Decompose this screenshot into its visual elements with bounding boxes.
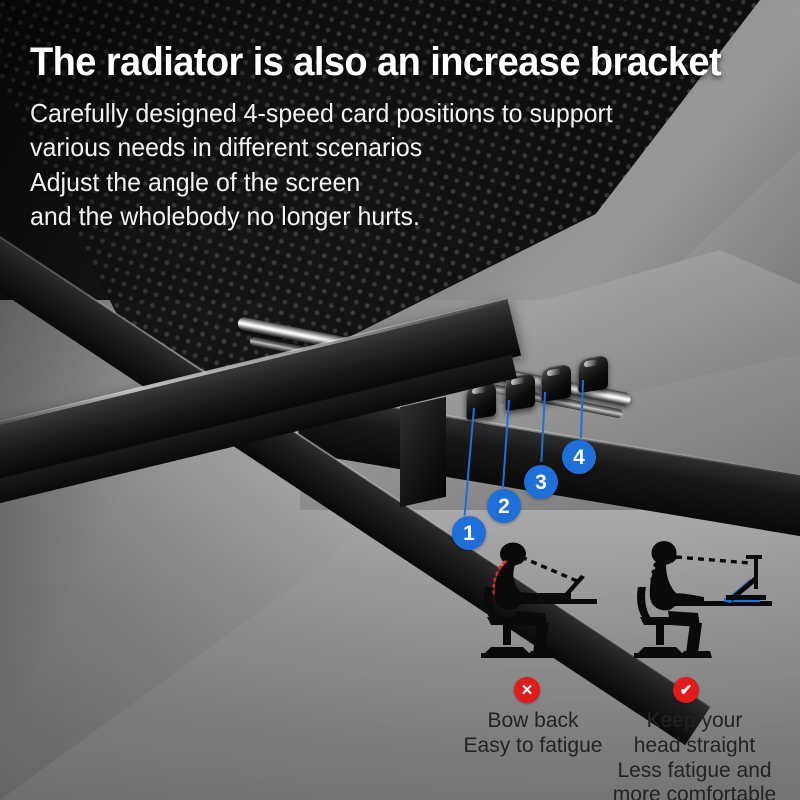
posture-good-figure: ✔ Keep your head straight Less fatigue a… (620, 535, 775, 680)
callout-badge-2-label: 2 (498, 496, 510, 517)
bad-caption-line-1: Bow back (453, 709, 613, 734)
callout-badge-3[interactable]: 3 (524, 465, 558, 499)
bad-posture-illustration (465, 535, 600, 675)
bad-posture-mark: ✕ (514, 677, 540, 703)
subtitle-line-1: Carefully designed 4-speed card position… (30, 96, 613, 130)
callout-badge-3-label: 3 (535, 472, 547, 493)
subtitle-line-3: Adjust the angle of the screen (30, 165, 613, 199)
callout-badge-2[interactable]: 2 (487, 489, 521, 523)
subtitle-line-2: various needs in different scenarios (30, 130, 613, 164)
page-subtitle: Carefully designed 4-speed card position… (30, 96, 613, 233)
good-caption-line-3: Less fatigue and (602, 759, 787, 784)
page-title: The radiator is also an increase bracket (30, 40, 721, 85)
good-posture-illustration (620, 535, 775, 675)
good-caption-line-4: more comfortable (602, 783, 787, 800)
cross-icon: ✕ (521, 681, 534, 699)
bracket-arm-end (400, 397, 446, 508)
posture-bad-figure: ✕ Bow back Easy to fatigue (465, 535, 600, 680)
check-icon: ✔ (680, 681, 693, 699)
bad-caption-line-2: Easy to fatigue (453, 734, 613, 759)
good-posture-caption: Keep your head straight Less fatigue and… (602, 709, 787, 800)
callout-badge-4[interactable]: 4 (562, 440, 596, 474)
bad-posture-caption: Bow back Easy to fatigue (453, 709, 613, 759)
product-marketing-image: 1 2 3 4 The radiator is also an increase… (0, 0, 800, 800)
good-caption-line-2: head straight (602, 734, 787, 759)
subtitle-line-4: and the wholebody no longer hurts. (30, 199, 613, 233)
good-posture-mark: ✔ (673, 677, 699, 703)
good-caption-line-1: Keep your (602, 709, 787, 734)
callout-badge-4-label: 4 (573, 447, 585, 468)
posture-comparison: ✕ Bow back Easy to fatigue (455, 535, 800, 800)
